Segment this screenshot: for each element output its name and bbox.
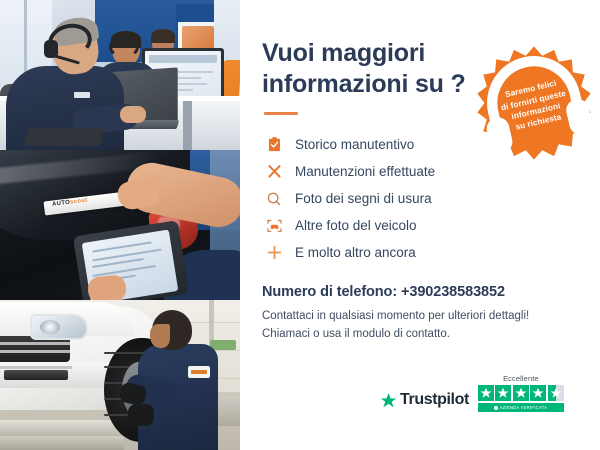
promo-banner: AUTOscout <box>0 0 600 450</box>
trustpilot-brand-name: Trustpilot <box>400 391 469 409</box>
trustpilot-rating-label: Eccellente <box>503 374 539 383</box>
photo-inspector-measuring-car-panel-with-tablet: AUTOscout <box>0 150 240 300</box>
rating-star-3 <box>513 385 529 401</box>
trustpilot-star-icon <box>380 392 397 409</box>
photo-call-center-agents-with-headsets <box>0 0 240 150</box>
wrench-cross-icon <box>262 162 286 182</box>
trustpilot-rating: Eccellente AZIENDA VERIFICATA <box>478 374 564 412</box>
callout-badge: Saremo felici di fornirti queste informa… <box>475 44 593 162</box>
feature-label: Altre foto del veicolo <box>295 218 417 233</box>
clipboard-check-icon <box>262 135 286 155</box>
content-panel: Vuoi maggiori informazioni su ? Saremo f… <box>240 0 600 450</box>
rating-star-1 <box>478 385 494 401</box>
photo-column: AUTOscout <box>0 0 240 450</box>
feature-item-foto-segni-usura: Foto dei segni di usura <box>262 185 578 212</box>
trustpilot-star-rating <box>478 385 564 401</box>
trustpilot-widget[interactable]: Trustpilot Eccellente AZIENDA VERIFICATA <box>380 374 564 412</box>
trustpilot-logo: Trustpilot <box>380 391 469 412</box>
verified-business-badge: AZIENDA VERIFICATA <box>478 403 564 412</box>
verified-badge-label: AZIENDA VERIFICATA <box>500 405 548 410</box>
feature-label: E molto altro ancora <box>295 245 416 260</box>
plus-icon <box>262 243 286 263</box>
feature-item-altre-foto-veicolo: Altre foto del veicolo <box>262 212 578 239</box>
feature-item-molto-altro: E molto altro ancora <box>262 239 578 266</box>
page-title: Vuoi maggiori informazioni su ? <box>262 38 472 99</box>
check-circle-icon <box>494 406 498 410</box>
phone-label: Numero di telefono: <box>262 284 397 300</box>
car-focus-icon <box>262 216 286 236</box>
feature-label: Storico manutentivo <box>295 137 414 152</box>
contact-instructions: Contattaci in qualsiasi momento per ulte… <box>262 308 578 344</box>
rating-star-4 <box>530 385 546 401</box>
contact-line-1: Contattaci in qualsiasi momento per ulte… <box>262 308 578 326</box>
rating-star-5-half <box>548 385 564 401</box>
photo-mechanic-inspecting-wheel-on-lift <box>0 300 240 450</box>
title-underline-divider <box>264 112 298 115</box>
contact-line-2: Chiamaci o usa il modulo di contatto. <box>262 326 578 344</box>
phone-number[interactable]: +390238583852 <box>401 284 505 300</box>
magnifier-icon <box>262 189 286 209</box>
rating-star-2 <box>495 385 511 401</box>
feature-label: Foto dei segni di usura <box>295 191 432 206</box>
feature-label: Manutenzioni effettuate <box>295 164 435 179</box>
phone-number-line: Numero di telefono: +390238583852 <box>262 284 578 300</box>
